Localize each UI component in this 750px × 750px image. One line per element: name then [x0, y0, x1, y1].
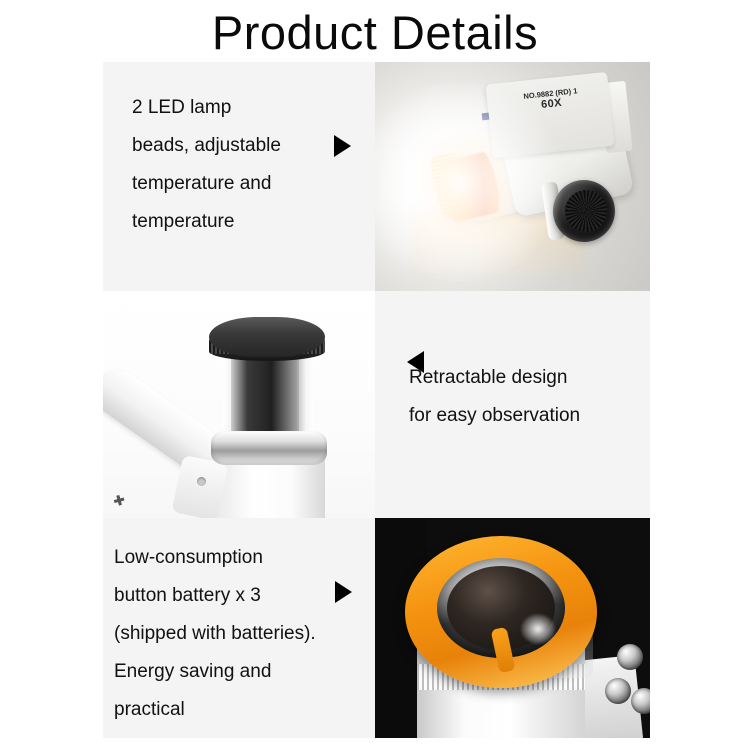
- product-details-page: Product Details 2 LED lamp beads, adjust…: [0, 0, 750, 750]
- product-photo-lit-microscope: NO.9882 (RD) 1 60X: [375, 62, 650, 291]
- feature-grid: 2 LED lamp beads, adjustable temperature…: [103, 62, 650, 738]
- product-photo-eyepiece: ✖: [103, 291, 375, 518]
- photo3-led-bead: [631, 688, 650, 714]
- feature-text-cell-1: 2 LED lamp beads, adjustable temperature…: [103, 62, 375, 291]
- photo2-lower-body: [215, 457, 325, 518]
- product-photo-lens-ring: [375, 518, 650, 738]
- photo2-hinge-hole: [197, 477, 206, 486]
- photo3-led-bead: [605, 678, 631, 704]
- feature-image-cell-3: [375, 518, 650, 738]
- feature-image-cell-2: ✖: [103, 291, 375, 518]
- feature-caption-3: Low-consumption button battery x 3 (ship…: [114, 539, 344, 729]
- photo2-arm-marking: ✖: [111, 490, 137, 513]
- photo3-led-bead: [617, 644, 643, 670]
- feature-caption-1: 2 LED lamp beads, adjustable temperature…: [132, 89, 347, 241]
- feature-text-cell-3: Low-consumption button battery x 3 (ship…: [103, 518, 375, 738]
- photo2-eyepiece-cap: [209, 317, 325, 357]
- page-title: Product Details: [0, 6, 750, 60]
- photo1-blue-switch: [482, 113, 490, 121]
- triangle-right-icon: [334, 135, 351, 157]
- feature-image-cell-1: NO.9882 (RD) 1 60X: [375, 62, 650, 291]
- feature-text-cell-2: Retractable design for easy observation: [375, 291, 650, 518]
- feature-caption-2: Retractable design for easy observation: [409, 359, 637, 435]
- triangle-right-icon: [335, 581, 352, 603]
- photo2-tube: [231, 355, 305, 443]
- photo2-chrome-collar: [211, 431, 327, 465]
- photo3-lens-glint: [521, 614, 555, 644]
